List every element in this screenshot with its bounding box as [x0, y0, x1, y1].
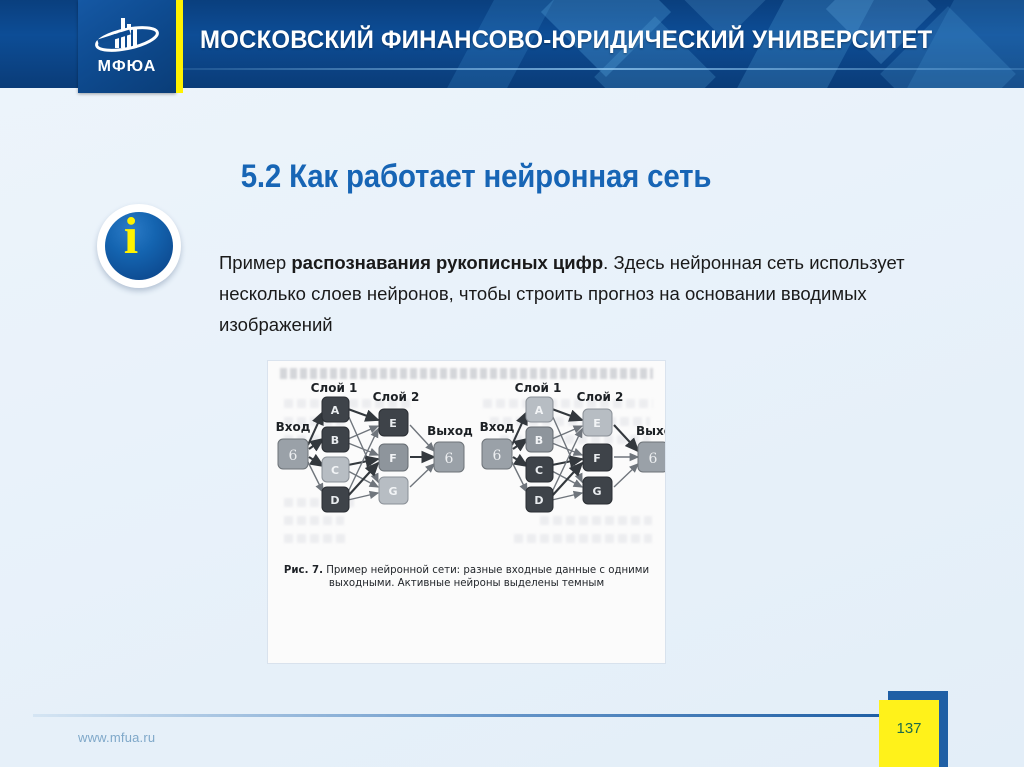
svg-text:G: G: [592, 485, 601, 498]
svg-text:B: B: [331, 434, 339, 447]
info-icon-letter: i: [97, 204, 165, 272]
university-logo: МФЮА: [78, 0, 176, 93]
svg-text:F: F: [593, 452, 601, 465]
svg-text:A: A: [535, 404, 544, 417]
svg-text:G: G: [388, 485, 397, 498]
node-output-right-value: 6: [649, 451, 658, 467]
footer-website-link[interactable]: www.mfua.ru: [78, 730, 155, 745]
page-title: 5.2 Как работает нейронная сеть: [38, 158, 914, 195]
node-output-left-value: 6: [445, 451, 454, 467]
label-output-left: Выход: [427, 424, 473, 438]
header-underline: [180, 68, 1024, 70]
logo-text: МФЮА: [78, 58, 176, 76]
scan-top-faded-text: [280, 368, 653, 379]
neural-network-diagram: .nd-dark { fill:#3e4349; stroke:#2a2e33;…: [268, 379, 665, 574]
label-input-right: Вход: [480, 420, 515, 434]
body-lead-text: Пример: [219, 252, 291, 273]
svg-text:E: E: [389, 417, 397, 430]
network-left: 6 Вход Слой 1 A B C D Слой 2 E F G: [276, 381, 474, 512]
university-title: МОСКОВСКИЙ ФИНАНСОВО-ЮРИДИЧЕСКИЙ УНИВЕРС…: [200, 26, 932, 55]
scanned-figure-image: .nd-dark { fill:#3e4349; stroke:#2a2e33;…: [268, 361, 665, 663]
body-paragraph: Пример распознавания рукописных цифр. Зд…: [219, 247, 919, 340]
info-icon: i: [97, 204, 181, 288]
svg-text:F: F: [389, 452, 397, 465]
logo-accent-bar: [176, 0, 183, 93]
figure-caption: Рис. 7. Пример нейронной сети: разные вх…: [280, 564, 653, 590]
svg-text:C: C: [331, 464, 339, 477]
svg-text:D: D: [330, 494, 339, 507]
label-layer2-left: Слой 2: [373, 390, 420, 404]
svg-text:C: C: [535, 464, 543, 477]
svg-text:B: B: [535, 434, 543, 447]
label-layer1-left: Слой 1: [311, 381, 358, 395]
node-input-left-value: 6: [289, 448, 298, 464]
svg-text:D: D: [534, 494, 543, 507]
network-right: 6 Вход Слой 1 A B C D Слой 2 E F G Выхо: [480, 381, 665, 512]
label-input-left: Вход: [276, 420, 311, 434]
node-input-right-value: 6: [493, 448, 502, 464]
page-number: 137: [879, 720, 939, 737]
body-bold-phrase: распознавания рукописных цифр: [291, 252, 603, 273]
label-layer1-right: Слой 1: [515, 381, 562, 395]
label-layer2-right: Слой 2: [577, 390, 624, 404]
slide-canvas: МОСКОВСКИЙ ФИНАНСОВО-ЮРИДИЧЕСКИЙ УНИВЕРС…: [0, 0, 1024, 767]
svg-text:A: A: [331, 404, 340, 417]
footer-divider: [33, 714, 881, 717]
mfua-emblem-icon: [90, 16, 164, 58]
svg-text:E: E: [593, 417, 601, 430]
figure-caption-text: Пример нейронной сети: разные входные да…: [323, 565, 649, 589]
label-output-right: Выхо: [636, 424, 665, 438]
figure-caption-label: Рис. 7.: [284, 565, 323, 576]
